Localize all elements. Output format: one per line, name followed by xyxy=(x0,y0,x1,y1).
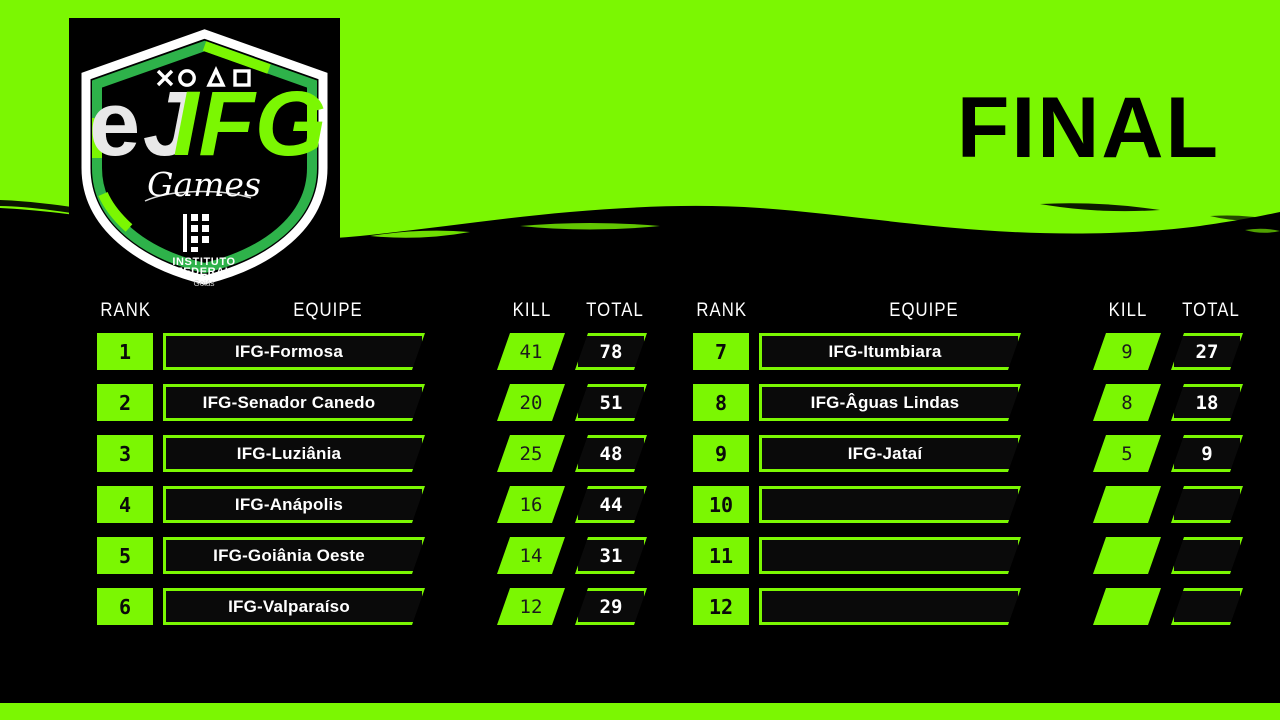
team-name-plate: IFG-Itumbiara xyxy=(759,333,1021,370)
total-chip: 27 xyxy=(1171,333,1243,370)
total-chip xyxy=(1171,486,1243,523)
rank-chip: 11 xyxy=(693,537,749,574)
rank-chip: 1 xyxy=(97,333,153,370)
rank-chip: 6 xyxy=(97,588,153,625)
wordmark-ejifg: e J IFG xyxy=(89,73,326,175)
rank-chip: 7 xyxy=(693,333,749,370)
team-name-label: IFG-Goiânia Oeste xyxy=(213,546,365,566)
svg-text:e: e xyxy=(89,73,140,175)
total-chip: 48 xyxy=(575,435,647,472)
team-name-plate: IFG-Formosa xyxy=(163,333,425,370)
column-header-kill: KILL xyxy=(1097,300,1159,322)
total-chip: 9 xyxy=(1171,435,1243,472)
total-chip xyxy=(1171,588,1243,625)
rank-chip: 9 xyxy=(693,435,749,472)
kill-chip: 16 xyxy=(497,486,565,523)
total-chip: 78 xyxy=(575,333,647,370)
wordmark-games: Games xyxy=(147,165,261,204)
team-name-plate: IFG-Luziânia xyxy=(163,435,425,472)
column-header-rank: RANK xyxy=(100,300,149,322)
total-chip: 29 xyxy=(575,588,647,625)
bottom-accent-strip xyxy=(0,703,1280,720)
team-name-plate: IFG-Anápolis xyxy=(163,486,425,523)
kill-chip: 8 xyxy=(1093,384,1161,421)
team-name-label: IFG-Formosa xyxy=(235,342,343,362)
column-header-total: TOTAL xyxy=(580,300,650,322)
column-header-kill: KILL xyxy=(501,300,563,322)
team-name-plate xyxy=(759,486,1021,523)
team-name-plate: IFG-Goiânia Oeste xyxy=(163,537,425,574)
total-chip: 31 xyxy=(575,537,647,574)
kill-chip: 41 xyxy=(497,333,565,370)
team-name-plate: IFG-Senador Canedo xyxy=(163,384,425,421)
logo-shield-artwork: e J IFG Games INSTITUTO FEDERAL Goiás xyxy=(69,18,340,290)
team-name-label: IFG-Itumbiara xyxy=(828,342,941,362)
team-name-label: IFG-Senador Canedo xyxy=(203,393,376,413)
team-name-plate xyxy=(759,537,1021,574)
rank-chip: 10 xyxy=(693,486,749,523)
kill-chip xyxy=(1093,537,1161,574)
team-name-label: IFG-Jataí xyxy=(848,444,923,464)
kill-chip: 9 xyxy=(1093,333,1161,370)
team-name-plate: IFG-Jataí xyxy=(759,435,1021,472)
rank-chip: 2 xyxy=(97,384,153,421)
institute-line-3: Goiás xyxy=(194,279,215,288)
page-title: FINAL xyxy=(957,85,1220,171)
kill-chip: 12 xyxy=(497,588,565,625)
kill-chip: 20 xyxy=(497,384,565,421)
column-header-team: EQUIPE xyxy=(183,300,473,322)
team-name-plate: IFG-Valparaíso xyxy=(163,588,425,625)
kill-chip: 25 xyxy=(497,435,565,472)
rank-chip: 5 xyxy=(97,537,153,574)
rank-chip: 8 xyxy=(693,384,749,421)
column-header-rank: RANK xyxy=(696,300,745,322)
total-chip: 18 xyxy=(1171,384,1243,421)
total-chip xyxy=(1171,537,1243,574)
team-name-plate xyxy=(759,588,1021,625)
total-chip: 44 xyxy=(575,486,647,523)
rank-chip: 12 xyxy=(693,588,749,625)
svg-text:IFG: IFG xyxy=(173,73,326,175)
rank-chip: 4 xyxy=(97,486,153,523)
institute-line-2: FEDERAL xyxy=(176,266,232,278)
kill-chip: 5 xyxy=(1093,435,1161,472)
total-chip: 51 xyxy=(575,384,647,421)
column-header-team: EQUIPE xyxy=(779,300,1069,322)
rank-chip: 3 xyxy=(97,435,153,472)
column-header-total: TOTAL xyxy=(1176,300,1246,322)
kill-chip: 14 xyxy=(497,537,565,574)
team-name-label: IFG-Luziânia xyxy=(237,444,341,464)
team-name-label: IFG-Âguas Lindas xyxy=(811,393,960,413)
kill-chip xyxy=(1093,486,1161,523)
team-name-label: IFG-Anápolis xyxy=(235,495,343,515)
team-name-plate: IFG-Âguas Lindas xyxy=(759,384,1021,421)
team-name-label: IFG-Valparaíso xyxy=(228,597,350,617)
logo-ejifg-games: e J IFG Games INSTITUTO FEDERAL Goiás xyxy=(69,18,340,290)
kill-chip xyxy=(1093,588,1161,625)
